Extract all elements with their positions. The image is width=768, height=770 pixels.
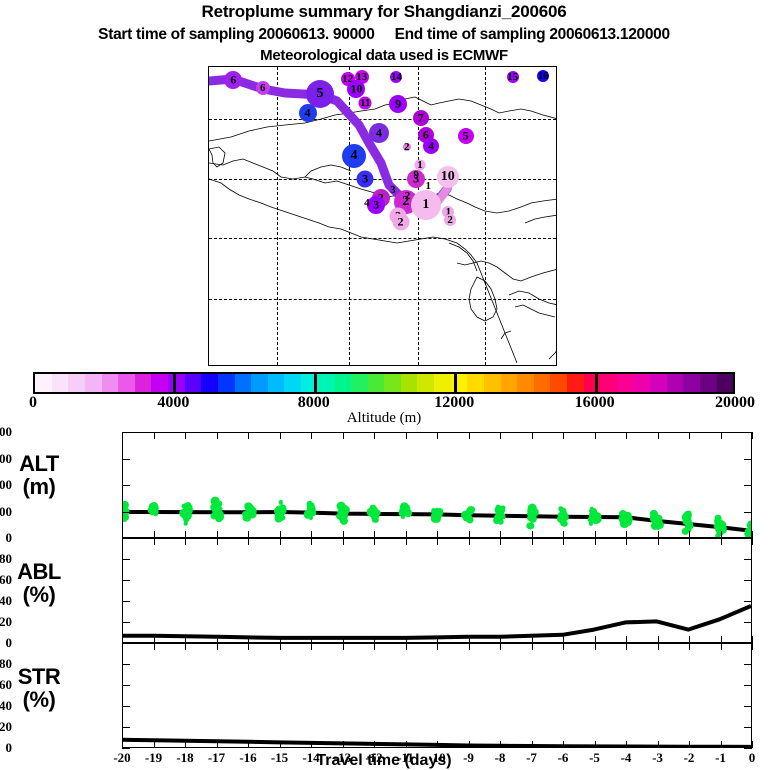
x-tick-mark (532, 432, 533, 439)
y-tick-mark (122, 559, 130, 560)
alt-particle (745, 531, 752, 538)
x-tick-mark (469, 531, 470, 538)
x-tick-mark (626, 643, 627, 650)
x-tick-mark (374, 636, 375, 643)
x-tick-mark (280, 636, 281, 643)
x-tick-mark (752, 531, 753, 538)
alt-particle (656, 521, 662, 527)
colorbar-segment (617, 374, 634, 392)
x-tick-mark (311, 636, 312, 643)
alt-axis-label: ALT (m) (6, 452, 72, 498)
map-marker-label: 3 (362, 171, 368, 186)
alt-particle (715, 526, 723, 534)
x-tick-mark (406, 432, 407, 439)
x-tick-mark (122, 531, 123, 538)
y-tick-label: 20000 (0, 424, 12, 440)
colorbar-segment (218, 374, 235, 392)
colorbar-segment (151, 374, 168, 392)
colorbar-segment (35, 374, 52, 392)
map-marker-label: 4 (305, 106, 311, 121)
x-tick-mark (343, 643, 344, 650)
x-tick-mark (374, 432, 375, 439)
map-marker-label: 5 (463, 129, 469, 144)
colorbar-segment (401, 374, 418, 392)
x-tick-mark (595, 531, 596, 538)
colorbar-segment (467, 374, 484, 392)
alt-particle (211, 513, 218, 520)
x-tick-mark (185, 432, 186, 439)
map-marker-label: 11 (360, 97, 370, 109)
x-tick-mark (500, 741, 501, 748)
y-tick-label: 10000 (0, 477, 12, 493)
x-tick-mark (217, 636, 218, 643)
colorbar-divider (314, 372, 317, 394)
x-tick-mark (217, 538, 218, 545)
x-tick-mark (721, 538, 722, 545)
y-tick-mark (122, 685, 130, 686)
y-tick-label: 20 (0, 614, 12, 630)
x-tick-mark (311, 531, 312, 538)
x-tick-mark (311, 538, 312, 545)
start-time-label: Start time of sampling 20060613. 90000 (98, 26, 374, 43)
y-tick-mark (122, 601, 130, 602)
colorbar-divider (454, 372, 457, 394)
alt-particle (751, 524, 752, 529)
y-tick-label: 15000 (0, 451, 12, 467)
x-tick-mark (374, 643, 375, 650)
x-tick-mark (154, 531, 155, 538)
x-tick-mark (721, 741, 722, 748)
map-marker-label: 7 (418, 111, 424, 126)
x-tick-mark (500, 432, 501, 439)
x-tick-mark (185, 636, 186, 643)
map-marker-label: 9 (413, 169, 419, 181)
x-tick-mark (185, 741, 186, 748)
colorbar-segment (501, 374, 518, 392)
x-tick-mark (343, 636, 344, 643)
y-tick-mark (744, 706, 752, 707)
colorbar-segment (683, 374, 700, 392)
x-tick-mark (689, 531, 690, 538)
x-tick-mark (437, 643, 438, 650)
x-tick-mark (406, 741, 407, 748)
alt-particle (687, 511, 692, 516)
y-tick-label: 0 (6, 530, 13, 546)
x-tick-mark (469, 741, 470, 748)
colorbar-segment (434, 374, 451, 392)
x-tick-mark (658, 531, 659, 538)
colorbar-segment (68, 374, 85, 392)
alt-particle (494, 514, 500, 520)
colorbar-segment (484, 374, 501, 392)
x-tick-mark (721, 643, 722, 650)
map-marker-label: 4 (428, 138, 434, 153)
map-marker-label: 10 (441, 169, 455, 185)
alt-particle (184, 504, 193, 513)
y-tick-mark (122, 664, 130, 665)
x-tick-mark (311, 741, 312, 748)
alt-particle (746, 523, 751, 528)
met-data-label: Meteorological data used is ECMWF (0, 47, 768, 64)
x-tick-mark (658, 538, 659, 545)
x-tick-mark (563, 432, 564, 439)
x-tick-mark (217, 643, 218, 650)
str-axis-label: STR (%) (6, 665, 72, 711)
colorbar-segment (417, 374, 434, 392)
colorbar-segment (384, 374, 401, 392)
retroplume-map: 1615141312101197654444321103912342231321… (208, 66, 557, 366)
x-tick-mark (437, 538, 438, 545)
map-marker-label: 15 (507, 71, 518, 83)
x-tick-mark (752, 643, 753, 650)
x-tick-mark (721, 636, 722, 643)
map-marker-label: 4 (364, 197, 370, 209)
y-tick-label: 0 (6, 635, 13, 651)
alt-particle (307, 505, 316, 514)
x-tick-mark (469, 636, 470, 643)
x-tick-mark (689, 538, 690, 545)
x-tick-mark (752, 538, 753, 545)
alt-panel (122, 432, 752, 538)
str-panel (122, 643, 752, 748)
colorbar-segment (118, 374, 135, 392)
y-tick-label: 5000 (0, 504, 12, 520)
x-tick-mark (626, 531, 627, 538)
alt-particle (155, 509, 160, 514)
x-tick-mark (154, 741, 155, 748)
x-tick-mark (752, 432, 753, 439)
x-tick-mark (532, 531, 533, 538)
colorbar-segment (567, 374, 584, 392)
y-tick-mark (122, 580, 130, 581)
abl-series (123, 539, 751, 642)
y-tick-mark (744, 512, 752, 513)
x-tick-mark (248, 432, 249, 439)
x-tick-mark (595, 741, 596, 748)
x-tick-mark (469, 432, 470, 439)
end-time-label: End time of sampling 20060613.120000 (395, 26, 670, 43)
x-tick-mark (217, 741, 218, 748)
x-tick-mark (595, 432, 596, 439)
str-series (123, 644, 751, 747)
map-marker-label: 2 (447, 214, 453, 226)
x-tick-mark (154, 636, 155, 643)
x-tick-mark (343, 741, 344, 748)
x-tick-mark (595, 643, 596, 650)
x-tick-mark (248, 643, 249, 650)
colorbar-segment (185, 374, 202, 392)
x-tick-mark (563, 741, 564, 748)
x-tick-mark (280, 741, 281, 748)
y-tick-mark (744, 727, 752, 728)
y-tick-mark (122, 538, 130, 539)
y-tick-mark (744, 580, 752, 581)
colorbar-segment (550, 374, 567, 392)
alt-particle (461, 511, 469, 519)
colorbar-segment (201, 374, 218, 392)
x-tick-mark (248, 636, 249, 643)
x-tick-mark (343, 531, 344, 538)
x-tick-mark (532, 643, 533, 650)
x-tick-mark (406, 636, 407, 643)
x-tick-mark (154, 538, 155, 545)
colorbar-segment (251, 374, 268, 392)
y-tick-mark (744, 538, 752, 539)
y-tick-mark (122, 432, 130, 433)
y-tick-mark (122, 706, 130, 707)
x-tick-mark (437, 741, 438, 748)
x-tick-mark (122, 741, 123, 748)
x-tick-mark (280, 643, 281, 650)
colorbar-segment (168, 374, 185, 392)
x-tick-mark (406, 643, 407, 650)
x-tick-mark (689, 636, 690, 643)
x-tick-mark (217, 432, 218, 439)
y-tick-mark (744, 432, 752, 433)
y-tick-mark (122, 622, 130, 623)
colorbar-segment (351, 374, 368, 392)
x-tick-mark (721, 531, 722, 538)
x-tick-mark (122, 432, 123, 439)
colorbar-segment (634, 374, 651, 392)
x-tick-mark (217, 531, 218, 538)
x-tick-mark (689, 643, 690, 650)
x-tick-mark (689, 432, 690, 439)
x-tick-mark (154, 432, 155, 439)
map-marker-label: 4 (376, 125, 382, 140)
x-tick-mark (500, 636, 501, 643)
alt-particle (244, 514, 249, 519)
x-tick-mark (185, 531, 186, 538)
x-tick-mark (658, 636, 659, 643)
abl-panel (122, 538, 752, 643)
x-tick-mark (752, 741, 753, 748)
y-tick-mark (744, 643, 752, 644)
y-tick-label: 40 (0, 698, 12, 714)
x-tick-mark (406, 531, 407, 538)
map-marker-label: 2 (405, 190, 411, 202)
x-tick-mark (563, 643, 564, 650)
colorbar-segment (268, 374, 285, 392)
map-marker-label: 4 (351, 148, 358, 164)
x-tick-mark (626, 636, 627, 643)
colorbar-segment (517, 374, 534, 392)
alt-particle (559, 511, 568, 520)
x-tick-mark (248, 531, 249, 538)
y-tick-mark (744, 664, 752, 665)
y-tick-label: 40 (0, 593, 12, 609)
y-tick-label: 60 (0, 572, 12, 588)
colorbar-segment (85, 374, 102, 392)
y-tick-mark (122, 643, 130, 644)
trajectory-path (209, 67, 557, 366)
x-tick-mark (658, 741, 659, 748)
x-tick-mark (343, 432, 344, 439)
colorbar-segment (52, 374, 69, 392)
x-tick-mark (658, 432, 659, 439)
colorbar-divider (173, 372, 176, 394)
y-tick-mark (122, 748, 130, 749)
y-tick-mark (744, 485, 752, 486)
x-tick-mark (374, 538, 375, 545)
y-tick-label: 20 (0, 719, 12, 735)
x-tick-mark (500, 538, 501, 545)
y-tick-mark (744, 748, 752, 749)
x-tick-mark (122, 538, 123, 545)
x-tick-mark (437, 432, 438, 439)
x-tick-mark (280, 432, 281, 439)
colorbar-segment (102, 374, 119, 392)
colorbar-segment (284, 374, 301, 392)
altitude-colorbar (33, 372, 735, 394)
alt-particle (278, 506, 287, 515)
x-tick-mark (626, 741, 627, 748)
x-tick-mark (122, 636, 123, 643)
x-tick-mark (311, 643, 312, 650)
x-tick-mark (469, 538, 470, 545)
colorbar-divider (595, 372, 598, 394)
x-tick-mark (532, 538, 533, 545)
colorbar-segment (534, 374, 551, 392)
x-tick-mark (595, 538, 596, 545)
map-marker-label: 6 (260, 82, 266, 94)
x-tick-mark (752, 636, 753, 643)
y-tick-mark (122, 459, 130, 460)
map-marker-label: 2 (398, 214, 404, 229)
x-tick-mark (689, 741, 690, 748)
x-tick-mark (154, 643, 155, 650)
y-tick-mark (122, 485, 130, 486)
x-tick-mark (437, 636, 438, 643)
y-tick-mark (744, 685, 752, 686)
alt-particle (371, 511, 377, 517)
y-tick-mark (122, 512, 130, 513)
y-tick-label: 80 (0, 656, 12, 672)
x-tick-mark (563, 636, 564, 643)
map-marker-label: 10 (350, 82, 362, 97)
map-marker-label: 14 (391, 71, 402, 83)
colorbar-segment (717, 374, 734, 392)
x-tick-mark (437, 531, 438, 538)
x-tick-mark (563, 538, 564, 545)
x-tick-mark (122, 643, 123, 650)
colorbar-segment (650, 374, 667, 392)
y-tick-label: 60 (0, 677, 12, 693)
x-tick-mark (343, 538, 344, 545)
colorbar-segment (334, 374, 351, 392)
x-tick-mark (469, 643, 470, 650)
colorbar-title: Altitude (m) (0, 410, 768, 427)
x-tick-mark (280, 531, 281, 538)
colorbar-segment (135, 374, 152, 392)
map-marker-label: 2 (404, 141, 410, 153)
x-tick-mark (280, 538, 281, 545)
alt-particle (183, 517, 189, 523)
colorbar-segment (700, 374, 717, 392)
x-tick-mark (406, 538, 407, 545)
x-tick-mark (626, 538, 627, 545)
map-marker-label: 3 (373, 197, 379, 212)
x-tick-mark (563, 531, 564, 538)
y-tick-mark (744, 559, 752, 560)
x-tick-mark (532, 636, 533, 643)
x-tick-mark (626, 432, 627, 439)
y-tick-mark (744, 622, 752, 623)
x-tick-mark (374, 741, 375, 748)
y-tick-mark (744, 601, 752, 602)
x-tick-mark (500, 531, 501, 538)
x-tick-mark (595, 636, 596, 643)
colorbar-segment (667, 374, 684, 392)
abl-axis-label: ABL (%) (6, 560, 72, 606)
x-axis-title: Travel time (days) (0, 752, 768, 770)
map-marker-label: 5 (317, 86, 324, 102)
x-tick-mark (658, 643, 659, 650)
colorbar-segment (368, 374, 385, 392)
colorbar-segment (235, 374, 252, 392)
colorbar-segment (318, 374, 335, 392)
colorbar-segment (600, 374, 617, 392)
page-title: Retroplume summary for Shangdianzi_20060… (0, 2, 768, 22)
x-tick-mark (248, 741, 249, 748)
x-tick-mark (185, 643, 186, 650)
x-tick-mark (721, 432, 722, 439)
y-tick-mark (122, 727, 130, 728)
y-tick-mark (744, 459, 752, 460)
x-tick-mark (185, 538, 186, 545)
map-marker-label: 6 (230, 72, 236, 87)
map-marker-label: 3 (390, 184, 396, 196)
x-tick-mark (311, 432, 312, 439)
map-marker-label: 16 (538, 70, 549, 82)
sampling-times: Start time of sampling 20060613. 90000 E… (0, 26, 768, 44)
y-tick-label: 80 (0, 551, 12, 567)
x-tick-mark (374, 531, 375, 538)
x-tick-mark (532, 741, 533, 748)
map-marker-label: 1 (422, 197, 429, 213)
x-tick-mark (500, 643, 501, 650)
x-tick-mark (248, 538, 249, 545)
map-marker-label: 9 (395, 96, 401, 111)
